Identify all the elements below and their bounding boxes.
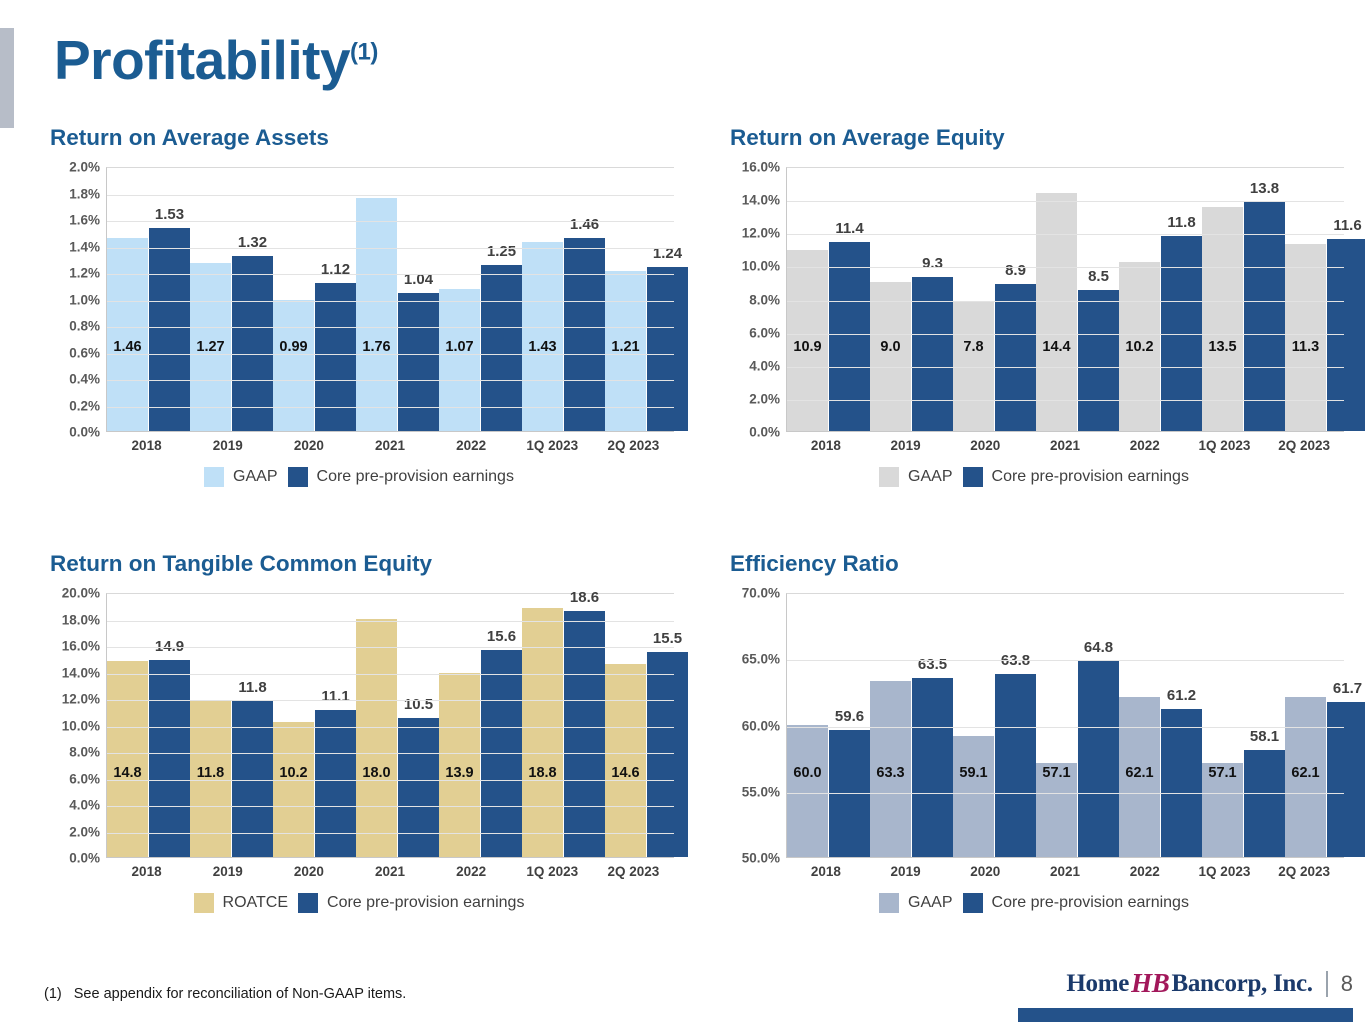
bar-group: 11.811.8 (190, 594, 273, 857)
chart-legend: ROATCECore pre-provision earnings (44, 893, 674, 913)
bar: 1.32 (232, 256, 273, 431)
bar: 57.1 (1202, 763, 1243, 857)
bar: 10.5 (398, 718, 439, 857)
gridline (107, 753, 674, 754)
legend-item[interactable]: Core pre-provision earnings (963, 893, 1189, 913)
x-tick-label: 2019 (866, 864, 946, 879)
legend-label: Core pre-provision earnings (992, 468, 1189, 486)
bar-value-label: 59.6 (835, 708, 864, 725)
page-number: 8 (1341, 971, 1353, 997)
bar: 9.0 (870, 282, 911, 431)
x-tick-labels: 201820192020202120221Q 20232Q 2023 (786, 438, 1344, 453)
bar-value-label: 14.4 (1042, 339, 1070, 355)
bar: 13.8 (1244, 202, 1285, 431)
legend-label: Core pre-provision earnings (317, 468, 514, 486)
bar-group: 10.211.1 (273, 594, 356, 857)
gridline (107, 727, 674, 728)
bar: 1.12 (315, 283, 356, 431)
chart-title: Efficiency Ratio (730, 551, 1344, 577)
x-tick-label: 2Q 2023 (1264, 864, 1344, 879)
bar: 62.1 (1119, 697, 1160, 857)
gridline (787, 367, 1344, 368)
logo-last-word: Bancorp, Inc. (1171, 970, 1312, 998)
bar: 1.53 (149, 228, 190, 431)
bottom-accent-band (1018, 1008, 1353, 1022)
bar: 57.1 (1036, 763, 1077, 857)
gridline (107, 354, 674, 355)
bar-group: 11.311.6 (1285, 168, 1365, 431)
bar: 0.99 (273, 300, 314, 431)
gridline (787, 334, 1344, 335)
bar-value-label: 62.1 (1125, 765, 1153, 781)
gridline (107, 674, 674, 675)
bar-groups: 60.059.663.363.559.163.857.164.862.161.2… (787, 594, 1344, 857)
x-tick-label: 2019 (187, 864, 268, 879)
bar-value-label: 11.1 (321, 688, 349, 705)
bar: 63.3 (870, 681, 911, 857)
x-tick-label: 2Q 2023 (1264, 438, 1344, 453)
legend-swatch (288, 467, 308, 487)
legend-item[interactable]: ROATCE (194, 893, 288, 913)
bar-value-label: 8.9 (1005, 262, 1026, 279)
bar-group: 9.09.3 (870, 168, 953, 431)
gridline (107, 301, 674, 302)
page-title-text: Profitability (54, 29, 350, 91)
logo-wordmark: Home HB Bancorp, Inc. (1066, 968, 1312, 999)
y-tick-label: 65.0% (742, 652, 780, 667)
bar-group: 13.513.8 (1202, 168, 1285, 431)
y-tick-label: 1.4% (69, 239, 100, 254)
y-tick-label: 18.0% (62, 612, 100, 627)
bar-value-label: 10.9 (793, 339, 821, 355)
bar: 64.8 (1078, 661, 1119, 857)
legend-label: GAAP (908, 894, 952, 912)
footnote-text: See appendix for reconciliation of Non-G… (74, 986, 407, 1002)
chart-legend: GAAPCore pre-provision earnings (724, 467, 1344, 487)
gridline (107, 700, 674, 701)
chart-title: Return on Average Equity (730, 125, 1344, 151)
bar: 8.9 (995, 284, 1036, 431)
x-tick-label: 2022 (1105, 864, 1185, 879)
gridline (787, 234, 1344, 235)
x-tick-label: 2019 (866, 438, 946, 453)
y-tick-label: 70.0% (742, 586, 780, 601)
logo-first-word: Home (1066, 970, 1129, 998)
chart-panel-return-on-average-equity: Return on Average Equity 0.0%2.0%4.0%6.0… (724, 125, 1344, 487)
legend-item[interactable]: Core pre-provision earnings (298, 893, 524, 913)
gridline (107, 327, 674, 328)
y-tick-label: 1.0% (69, 292, 100, 307)
bar-group: 10.211.8 (1119, 168, 1202, 431)
gridline (107, 274, 674, 275)
bar-value-label: 59.1 (959, 765, 987, 781)
bar-group: 1.211.24 (605, 168, 688, 431)
chart-panel-return-on-average-assets: Return on Average Assets 0.0%0.2%0.4%0.6… (44, 125, 674, 487)
y-tick-label: 20.0% (62, 586, 100, 601)
bar-value-label: 63.3 (876, 765, 904, 781)
chart-area: 0.0%0.2%0.4%0.6%0.8%1.0%1.2%1.4%1.6%1.8%… (44, 167, 674, 487)
x-axis: 201820192020202120221Q 20232Q 2023 (44, 864, 674, 879)
y-tick-label: 8.0% (749, 292, 780, 307)
chart-title: Return on Average Assets (50, 125, 674, 151)
legend-swatch (879, 467, 899, 487)
bar: 8.5 (1078, 290, 1119, 431)
bar-value-label: 57.1 (1042, 765, 1070, 781)
y-tick-label: 2.0% (69, 160, 100, 175)
gridline (787, 267, 1344, 268)
chart-legend: GAAPCore pre-provision earnings (44, 467, 674, 487)
y-tick-label: 16.0% (62, 639, 100, 654)
bar: 13.5 (1202, 207, 1243, 431)
x-axis: 201820192020202120221Q 20232Q 2023 (724, 864, 1344, 879)
x-tick-label: 2020 (268, 438, 349, 453)
legend-label: ROATCE (223, 894, 288, 912)
logo-divider (1326, 971, 1328, 997)
gridline (787, 793, 1344, 794)
bar: 1.46 (564, 238, 605, 431)
x-tick-label: 2021 (1025, 864, 1105, 879)
bar: 61.2 (1161, 709, 1202, 857)
bar: 11.1 (315, 710, 356, 857)
bar: 61.7 (1327, 702, 1365, 857)
legend-label: GAAP (233, 468, 277, 486)
bar-group: 60.059.6 (787, 594, 870, 857)
bar-value-label: 13.5 (1208, 339, 1236, 355)
plot-area: 10.911.49.09.37.88.914.48.510.211.813.51… (786, 167, 1344, 432)
bar-value-label: 9.0 (880, 339, 900, 355)
legend-item[interactable]: GAAP (204, 467, 277, 487)
y-tick-label: 0.0% (749, 425, 780, 440)
legend-swatch (204, 467, 224, 487)
x-tick-label: 2020 (268, 864, 349, 879)
plot-area: 14.814.911.811.810.211.118.010.513.915.6… (106, 593, 674, 858)
legend-swatch (963, 893, 983, 913)
bar: 1.76 (356, 198, 397, 431)
y-axis: 50.0%55.0%60.0%65.0%70.0% (724, 593, 786, 858)
bar-value-label: 1.25 (487, 243, 516, 260)
legend-swatch (298, 893, 318, 913)
gridline (787, 727, 1344, 728)
bar: 1.07 (439, 289, 480, 431)
bar-value-label: 11.8 (1167, 214, 1195, 231)
gridline (107, 407, 674, 408)
x-tick-label: 1Q 2023 (512, 438, 593, 453)
y-tick-label: 55.0% (742, 784, 780, 799)
bar-value-label: 63.5 (918, 656, 947, 673)
bar: 11.4 (829, 242, 870, 431)
y-tick-label: 0.0% (69, 851, 100, 866)
y-tick-label: 1.2% (69, 266, 100, 281)
y-tick-label: 50.0% (742, 851, 780, 866)
y-tick-label: 10.0% (742, 259, 780, 274)
x-tick-label: 2018 (786, 864, 866, 879)
chart-area: 0.0%2.0%4.0%6.0%8.0%10.0%12.0%14.0%16.0%… (44, 593, 674, 913)
bar-group: 62.161.2 (1119, 594, 1202, 857)
chart-area: 50.0%55.0%60.0%65.0%70.0% 60.059.663.363… (724, 593, 1344, 913)
legend-swatch (879, 893, 899, 913)
bar: 59.1 (953, 736, 994, 857)
x-tick-label: 1Q 2023 (512, 864, 593, 879)
x-tick-label: 2019 (187, 438, 268, 453)
bar-group: 13.915.6 (439, 594, 522, 857)
x-tick-label: 2022 (1105, 438, 1185, 453)
bar-value-label: 18.6 (570, 589, 599, 606)
bar: 1.04 (398, 293, 439, 431)
bar-value-label: 1.12 (321, 261, 350, 278)
bar-group: 62.161.7 (1285, 594, 1365, 857)
gridline (107, 780, 674, 781)
gridline (107, 195, 674, 196)
y-tick-label: 12.0% (62, 692, 100, 707)
left-accent-bar (0, 28, 14, 128)
bar-group: 1.461.53 (107, 168, 190, 431)
x-axis: 201820192020202120221Q 20232Q 2023 (44, 438, 674, 453)
x-tick-label: 2020 (945, 864, 1025, 879)
legend-item[interactable]: Core pre-provision earnings (963, 467, 1189, 487)
y-tick-label: 10.0% (62, 718, 100, 733)
bar-value-label: 64.8 (1084, 639, 1113, 656)
y-tick-label: 2.0% (749, 391, 780, 406)
y-tick-label: 0.0% (69, 425, 100, 440)
bar-value-label: 11.6 (1333, 217, 1361, 234)
gridline (107, 380, 674, 381)
gridline (107, 647, 674, 648)
bar-value-label: 8.5 (1088, 268, 1109, 285)
bar-group: 7.88.9 (953, 168, 1036, 431)
x-tick-label: 2022 (431, 864, 512, 879)
bar-value-label: 15.6 (487, 628, 516, 645)
x-tick-label: 2021 (349, 438, 430, 453)
legend-item[interactable]: GAAP (879, 893, 952, 913)
y-tick-label: 4.0% (69, 798, 100, 813)
bar-value-label: 7.8 (963, 339, 983, 355)
y-tick-label: 1.6% (69, 213, 100, 228)
bar-group: 1.271.32 (190, 168, 273, 431)
legend-item[interactable]: GAAP (879, 467, 952, 487)
bar-value-label: 9.3 (922, 255, 943, 272)
bar: 14.8 (107, 661, 148, 857)
bar: 14.4 (1036, 193, 1077, 432)
bar: 15.5 (647, 652, 688, 857)
bar-group: 14.615.5 (605, 594, 688, 857)
gridline (107, 221, 674, 222)
chart-panel-return-on-tangible-common-equity: Return on Tangible Common Equity 0.0%2.0… (44, 551, 674, 913)
gridline (107, 621, 674, 622)
bar-groups: 1.461.531.271.320.991.121.761.041.071.25… (107, 168, 674, 431)
x-tick-label: 2018 (786, 438, 866, 453)
x-tick-labels: 201820192020202120221Q 20232Q 2023 (786, 864, 1344, 879)
bar-value-label: 10.2 (1125, 339, 1153, 355)
y-axis: 0.0%2.0%4.0%6.0%8.0%10.0%12.0%14.0%16.0% (724, 167, 786, 432)
bar-value-label: 11.8 (238, 679, 266, 696)
company-logo: Home HB Bancorp, Inc. 8 (1066, 968, 1353, 999)
bar-value-label: 58.1 (1250, 728, 1279, 745)
x-tick-label: 2021 (349, 864, 430, 879)
x-tick-label: 2022 (431, 438, 512, 453)
bar-group: 59.163.8 (953, 594, 1036, 857)
y-tick-label: 0.4% (69, 372, 100, 387)
bar: 10.2 (1119, 262, 1160, 431)
y-tick-label: 0.8% (69, 319, 100, 334)
chart-legend: GAAPCore pre-provision earnings (724, 893, 1344, 913)
gridline (787, 660, 1344, 661)
bar-value-label: 11.3 (1292, 339, 1319, 355)
y-tick-label: 6.0% (749, 325, 780, 340)
bar-group: 18.010.5 (356, 594, 439, 857)
legend-label: GAAP (908, 468, 952, 486)
bar-value-label: 61.7 (1333, 680, 1362, 697)
bar-group: 57.158.1 (1202, 594, 1285, 857)
legend-label: Core pre-provision earnings (992, 894, 1189, 912)
bar-value-label: 1.46 (570, 216, 599, 233)
bar-groups: 10.911.49.09.37.88.914.48.510.211.813.51… (787, 168, 1344, 431)
bar-group: 57.164.8 (1036, 594, 1119, 857)
bar-group: 14.814.9 (107, 594, 190, 857)
bar: 1.43 (522, 242, 563, 431)
x-tick-label: 2020 (945, 438, 1025, 453)
y-axis: 0.0%0.2%0.4%0.6%0.8%1.0%1.2%1.4%1.6%1.8%… (44, 167, 106, 432)
legend-swatch (194, 893, 214, 913)
gridline (107, 806, 674, 807)
x-tick-label: 2Q 2023 (593, 864, 674, 879)
gridline (787, 201, 1344, 202)
footnote-marker: (1) (44, 986, 62, 1002)
y-tick-label: 60.0% (742, 718, 780, 733)
bar-value-label: 10.5 (404, 696, 433, 713)
x-tick-labels: 201820192020202120221Q 20232Q 2023 (106, 864, 674, 879)
bar: 58.1 (1244, 750, 1285, 857)
x-tick-label: 2Q 2023 (593, 438, 674, 453)
bar-value-label: 1.32 (238, 234, 267, 251)
bar: 18.8 (522, 608, 563, 857)
gridline (787, 301, 1344, 302)
bar-group: 10.911.4 (787, 168, 870, 431)
x-tick-label: 1Q 2023 (1185, 438, 1265, 453)
page-title: Profitability(1) (54, 28, 378, 92)
bar: 14.6 (605, 664, 646, 857)
page-title-superscript: (1) (350, 39, 378, 66)
bar-value-label: 61.2 (1167, 687, 1196, 704)
y-tick-label: 14.0% (62, 665, 100, 680)
x-tick-label: 2021 (1025, 438, 1105, 453)
hb-monogram-icon: HB (1131, 968, 1169, 999)
bar-group: 63.363.5 (870, 594, 953, 857)
footnote: (1)See appendix for reconciliation of No… (44, 986, 406, 1002)
y-tick-label: 16.0% (742, 160, 780, 175)
bar: 62.1 (1285, 697, 1326, 857)
y-tick-label: 6.0% (69, 771, 100, 786)
bar-value-label: 57.1 (1208, 765, 1236, 781)
legend-swatch (963, 467, 983, 487)
y-tick-label: 8.0% (69, 745, 100, 760)
y-tick-label: 0.6% (69, 345, 100, 360)
bar-group: 0.991.12 (273, 168, 356, 431)
y-tick-label: 12.0% (742, 226, 780, 241)
bar-value-label: 15.5 (653, 630, 682, 647)
legend-item[interactable]: Core pre-provision earnings (288, 467, 514, 487)
y-tick-label: 4.0% (749, 358, 780, 373)
x-tick-labels: 201820192020202120221Q 20232Q 2023 (106, 438, 674, 453)
bar-group: 18.818.6 (522, 594, 605, 857)
bar: 11.3 (1285, 244, 1326, 431)
bar: 60.0 (787, 725, 828, 858)
x-axis: 201820192020202120221Q 20232Q 2023 (724, 438, 1344, 453)
x-tick-label: 2018 (106, 438, 187, 453)
bar-group: 14.48.5 (1036, 168, 1119, 431)
gridline (107, 248, 674, 249)
legend-label: Core pre-provision earnings (327, 894, 524, 912)
y-axis: 0.0%2.0%4.0%6.0%8.0%10.0%12.0%14.0%16.0%… (44, 593, 106, 858)
y-tick-label: 0.2% (69, 398, 100, 413)
y-tick-label: 14.0% (742, 193, 780, 208)
bar: 63.8 (995, 674, 1036, 857)
bar-groups: 14.814.911.811.810.211.118.010.513.915.6… (107, 594, 674, 857)
bar-group: 1.431.46 (522, 168, 605, 431)
bar-group: 1.071.25 (439, 168, 522, 431)
y-tick-label: 2.0% (69, 824, 100, 839)
bar: 14.9 (149, 660, 190, 857)
y-tick-label: 1.8% (69, 186, 100, 201)
gridline (787, 400, 1344, 401)
chart-title: Return on Tangible Common Equity (50, 551, 674, 577)
plot-area: 1.461.531.271.320.991.121.761.041.071.25… (106, 167, 674, 432)
bar-value-label: 60.0 (793, 765, 821, 781)
gridline (107, 833, 674, 834)
bar: 1.46 (107, 238, 148, 431)
bar-group: 1.761.04 (356, 168, 439, 431)
x-tick-label: 1Q 2023 (1185, 864, 1265, 879)
chart-area: 0.0%2.0%4.0%6.0%8.0%10.0%12.0%14.0%16.0%… (724, 167, 1344, 487)
x-tick-label: 2018 (106, 864, 187, 879)
bar: 10.2 (273, 722, 314, 857)
plot-area: 60.059.663.363.559.163.857.164.862.161.2… (786, 593, 1344, 858)
bar-value-label: 13.8 (1250, 180, 1279, 197)
bar: 63.5 (912, 678, 953, 857)
bar-value-label: 62.1 (1291, 765, 1319, 781)
bar: 10.9 (787, 250, 828, 431)
bar: 18.0 (356, 619, 397, 858)
chart-panel-efficiency-ratio: Efficiency Ratio 50.0%55.0%60.0%65.0%70.… (724, 551, 1344, 913)
